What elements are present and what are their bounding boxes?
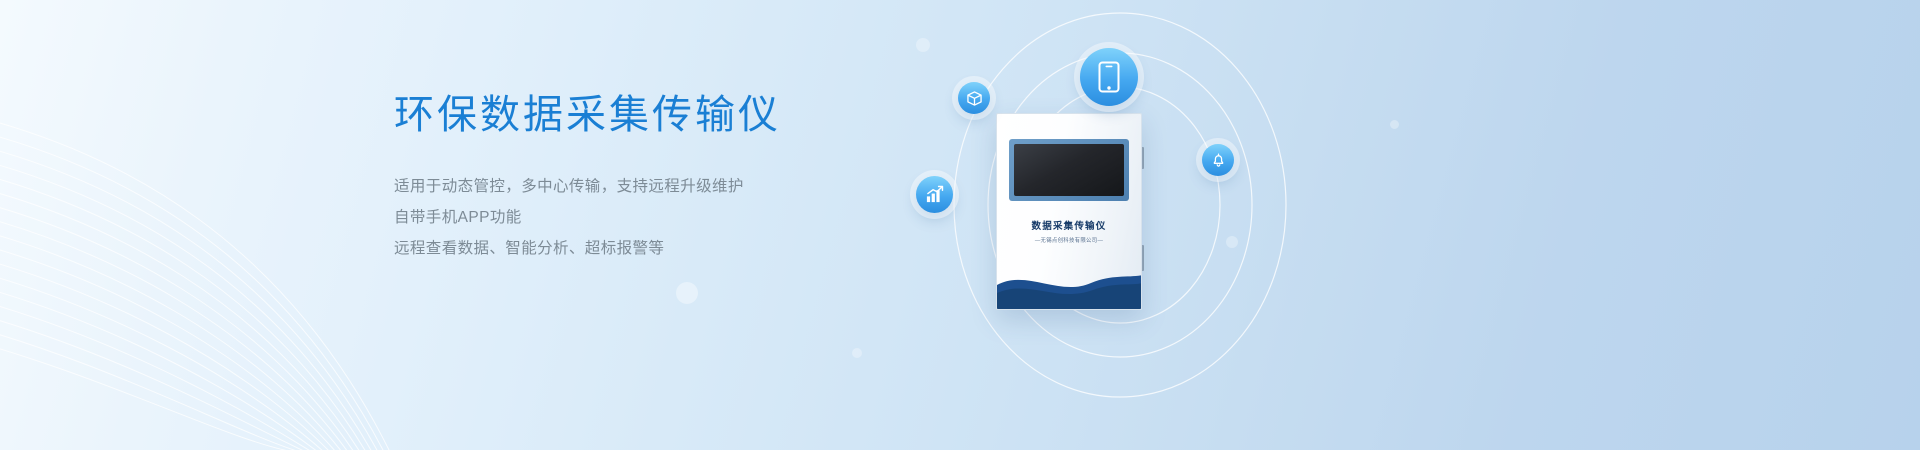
mobile-phone-icon[interactable]	[1080, 48, 1138, 106]
bokeh-dot	[916, 38, 930, 52]
device-label: 数据采集传输仪	[997, 218, 1141, 232]
bokeh-dot	[676, 282, 698, 304]
banner-subline-3: 远程查看数据、智能分析、超标报警等	[394, 233, 914, 264]
banner-sublines: 适用于动态管控，多中心传输，支持远程升级维护 自带手机APP功能 远程查看数据、…	[394, 171, 914, 264]
package-box-icon[interactable]	[958, 82, 990, 114]
device-cabinet: 数据采集传输仪 —无锡点创科技有限公司—	[996, 113, 1142, 310]
device-wave-footer	[997, 263, 1142, 309]
bokeh-dot	[852, 348, 862, 358]
banner-subline-2: 自带手机APP功能	[394, 202, 914, 233]
bar-chart-icon[interactable]	[916, 176, 953, 213]
banner-subline-1: 适用于动态管控，多中心传输，支持远程升级维护	[394, 171, 914, 202]
bokeh-dot	[1226, 236, 1238, 248]
banner-copy: 环保数据采集传输仪 适用于动态管控，多中心传输，支持远程升级维护 自带手机APP…	[394, 92, 914, 264]
device-screen-bezel	[1009, 139, 1129, 201]
device-screen	[1014, 144, 1124, 196]
device-company-label: —无锡点创科技有限公司—	[997, 236, 1141, 244]
alarm-bell-icon[interactable]	[1202, 144, 1234, 176]
product-banner: 环保数据采集传输仪 适用于动态管控，多中心传输，支持远程升级维护 自带手机APP…	[0, 0, 1920, 450]
bokeh-dot	[1390, 120, 1399, 129]
banner-headline: 环保数据采集传输仪	[394, 92, 914, 138]
device-illustration: 数据采集传输仪 —无锡点创科技有限公司—	[996, 113, 1142, 310]
